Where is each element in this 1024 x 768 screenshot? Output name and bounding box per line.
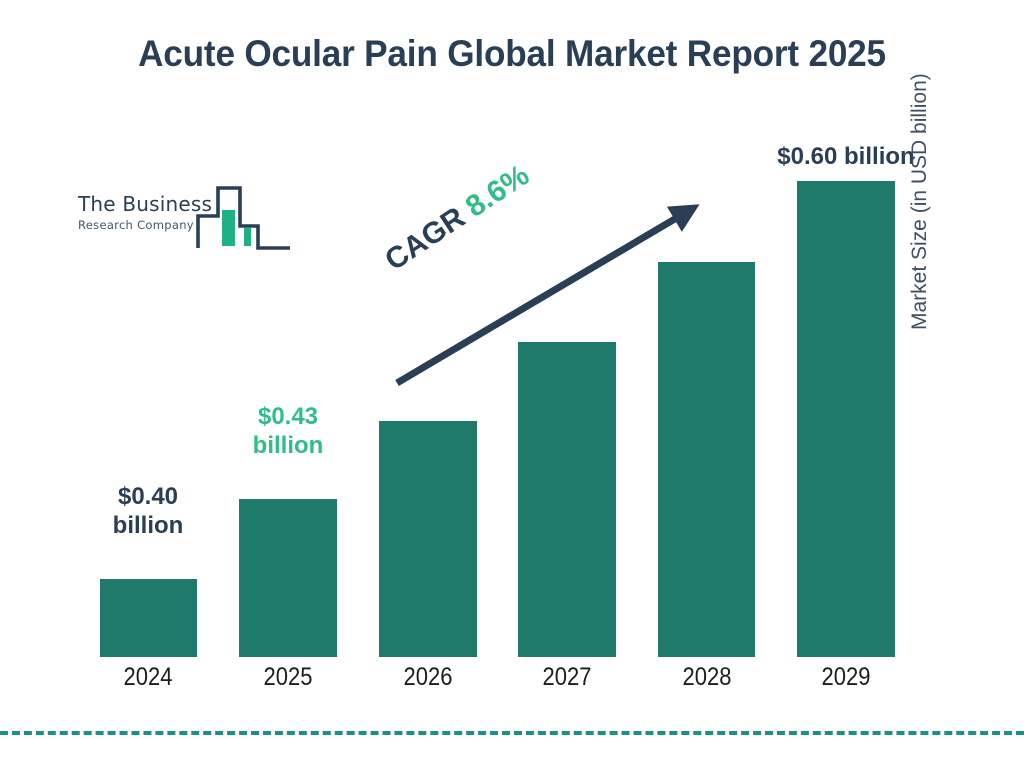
x-tick-2028: 2028 xyxy=(654,663,760,692)
bar-2028 xyxy=(658,262,755,657)
plot-area xyxy=(0,0,1024,768)
bar-2025 xyxy=(239,499,337,657)
bar-2029 xyxy=(797,181,895,657)
bar-2026 xyxy=(379,421,477,657)
x-tick-2027: 2027 xyxy=(514,663,620,692)
x-tick-2026: 2026 xyxy=(375,663,481,692)
x-tick-2025: 2025 xyxy=(235,663,341,692)
footer-divider xyxy=(0,731,1024,735)
bar-2024 xyxy=(100,579,197,657)
value-label-2024: $0.40 billion xyxy=(88,482,208,541)
bar-2027 xyxy=(518,342,616,657)
chart-canvas: Acute Ocular Pain Global Market Report 2… xyxy=(0,0,1024,768)
x-tick-2029: 2029 xyxy=(793,663,899,692)
y-axis-label: Market Size (in USD billion) xyxy=(908,0,932,330)
value-label-2025: $0.43 billion xyxy=(228,402,348,461)
x-tick-2024: 2024 xyxy=(95,663,201,692)
